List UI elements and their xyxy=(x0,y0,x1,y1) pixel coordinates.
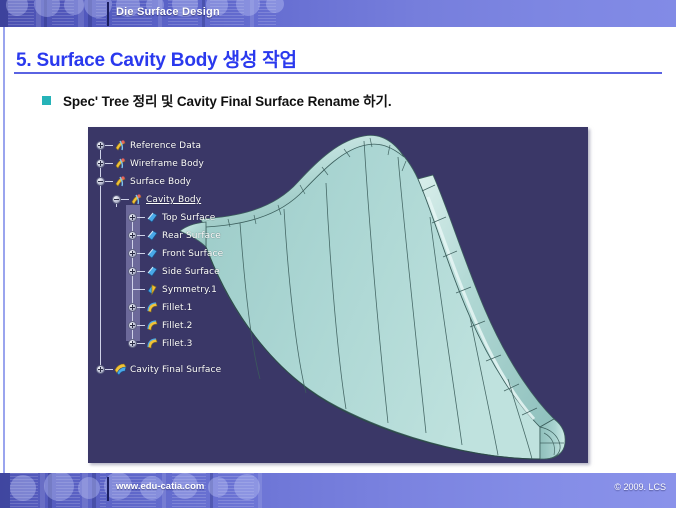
tree-expander-icon[interactable] xyxy=(96,365,105,374)
header-band: Die Surface Design xyxy=(0,0,676,27)
surface-icon xyxy=(146,265,159,278)
tree-item-side-surface[interactable]: Side Surface xyxy=(94,263,294,280)
tree-item-surface-body[interactable]: Surface Body xyxy=(94,173,294,190)
title-underline-rule xyxy=(14,72,662,74)
tree-item-label: Top Surface xyxy=(162,213,215,223)
footer-url-link[interactable]: www.edu-catia.com xyxy=(116,481,204,492)
tree-expander-icon[interactable] xyxy=(128,339,137,348)
tree-item-label: Surface Body xyxy=(130,177,191,187)
surface-icon xyxy=(146,229,159,242)
tree-item-cavity-body[interactable]: Cavity Body xyxy=(94,191,294,208)
tree-item-label: Symmetry.1 xyxy=(162,285,217,295)
surface-icon xyxy=(146,211,159,224)
tree-item-top-surface[interactable]: Top Surface xyxy=(94,209,294,226)
final-surface-icon xyxy=(114,363,127,376)
body-icon xyxy=(114,157,127,170)
tree-expander-icon[interactable] xyxy=(96,141,105,150)
bullet-row: Spec' Tree 정리 및 Cavity Final Surface Ren… xyxy=(42,90,391,110)
body-icon xyxy=(130,193,143,206)
header-title: Die Surface Design xyxy=(116,6,220,18)
tree-expander-icon[interactable] xyxy=(96,159,105,168)
tree-expander-icon[interactable] xyxy=(128,321,137,330)
surface-icon xyxy=(146,247,159,260)
tree-item-rear-surface[interactable]: Rear Surface xyxy=(94,227,294,244)
tree-expander-icon[interactable] xyxy=(128,303,137,312)
tree-item-fillet-2[interactable]: Fillet.2 xyxy=(94,317,294,334)
footer-copyright: © 2009. LCS xyxy=(614,482,666,492)
header-divider xyxy=(107,2,109,26)
footer-divider xyxy=(107,477,109,501)
tree-item-fillet-1[interactable]: Fillet.1 xyxy=(94,299,294,316)
tree-item-cavity-final-surface[interactable]: Cavity Final Surface xyxy=(94,361,304,378)
fillet-icon xyxy=(146,319,159,332)
tree-expander-icon[interactable] xyxy=(128,249,137,258)
tree-item-front-surface[interactable]: Front Surface xyxy=(94,245,294,262)
tree-item-label: Cavity Body xyxy=(146,195,201,205)
tree-item-label: Front Surface xyxy=(162,249,223,259)
square-bullet-icon xyxy=(42,96,51,105)
fillet-icon xyxy=(146,301,159,314)
tree-item-fillet-3[interactable]: Fillet.3 xyxy=(94,335,294,352)
tree-item-wireframe-body[interactable]: Wireframe Body xyxy=(94,155,294,172)
tree-item-label: Fillet.2 xyxy=(162,321,192,331)
slide-root: Die Surface Design 5. Surface Cavity Bod… xyxy=(0,0,676,508)
tree-item-label: Rear Surface xyxy=(162,231,221,241)
bullet-text: Spec' Tree 정리 및 Cavity Final Surface Ren… xyxy=(63,90,391,110)
left-decorative-rail xyxy=(3,27,5,473)
tree-item-reference-data[interactable]: Reference Data xyxy=(94,137,294,154)
tree-collapser-icon[interactable] xyxy=(96,177,105,186)
tree-collapser-icon[interactable] xyxy=(112,195,121,204)
tree-item-label: Cavity Final Surface xyxy=(130,365,221,375)
body-icon xyxy=(114,139,127,152)
tree-expander-icon[interactable] xyxy=(128,213,137,222)
tree-item-label: Reference Data xyxy=(130,141,201,151)
tree-item-label: Side Surface xyxy=(162,267,220,277)
tree-item-label: Fillet.3 xyxy=(162,339,192,349)
tree-item-label: Wireframe Body xyxy=(130,159,204,169)
body-icon xyxy=(114,175,127,188)
tree-item-label: Fillet.1 xyxy=(162,303,192,313)
cad-screenshot-panel: Reference Data Wireframe Body xyxy=(88,127,588,463)
tree-expander-icon[interactable] xyxy=(128,231,137,240)
symmetry-icon xyxy=(146,283,159,296)
tree-expander-icon[interactable] xyxy=(128,267,137,276)
footer-band: www.edu-catia.com © 2009. LCS xyxy=(0,473,676,508)
page-title: 5. Surface Cavity Body 생성 작업 xyxy=(16,45,297,72)
fillet-icon xyxy=(146,337,159,350)
tree-item-symmetry-1[interactable]: Symmetry.1 xyxy=(94,281,294,298)
